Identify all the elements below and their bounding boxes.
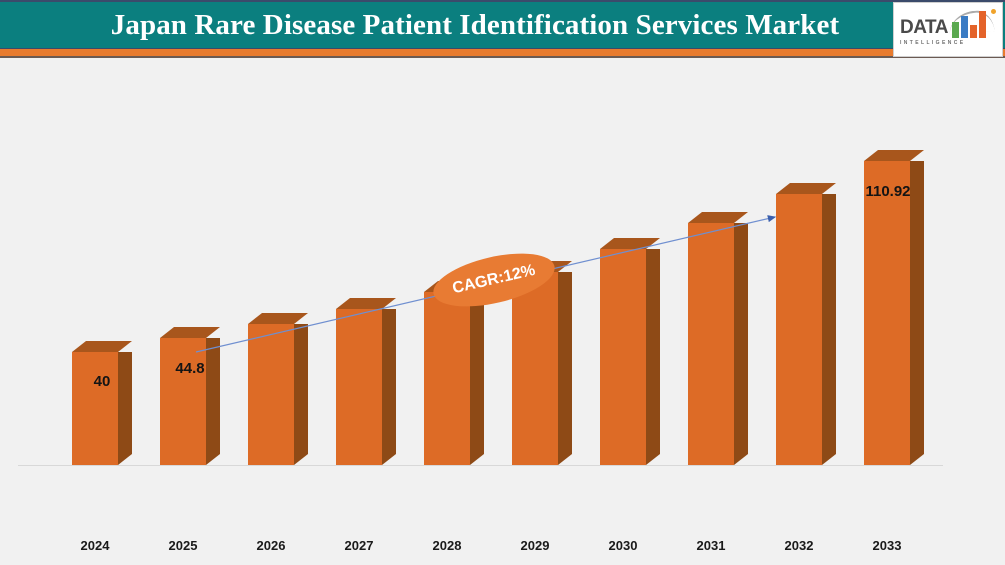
bar-2032 (776, 194, 822, 465)
bar-2027 (336, 309, 382, 465)
chart-page: Japan Rare Disease Patient Identificatio… (0, 0, 1005, 565)
chart-plot-area: 40202444.8202520262027202820292030203120… (0, 58, 1005, 565)
bar-side-face (382, 309, 396, 465)
logo-tagline: INTELLIGENCE (900, 40, 965, 46)
bar-front-face (688, 223, 734, 465)
bar-front-face (336, 309, 382, 465)
logo-arrow-tip-icon (991, 9, 996, 14)
bar-top-face (160, 327, 220, 338)
bar-front-face (864, 161, 910, 465)
bar-side-face (822, 194, 836, 465)
logo-bar-green-icon (952, 22, 959, 38)
bar-value-label-2024: 40 (72, 373, 132, 390)
x-axis-line (18, 465, 943, 466)
bar-top-face (72, 341, 132, 352)
bar-2025 (160, 338, 206, 465)
bar-2024 (72, 352, 118, 465)
bar-value-label-2033: 110.92 (848, 183, 928, 200)
bar-2031 (688, 223, 734, 465)
bar-front-face (160, 338, 206, 465)
x-axis-tick-2027: 2027 (329, 538, 389, 553)
x-axis-tick-2033: 2033 (857, 538, 917, 553)
logo-bar-blue-icon (961, 16, 968, 38)
bar-front-face (248, 324, 294, 465)
bar-side-face (910, 161, 924, 465)
x-axis-tick-2025: 2025 (153, 538, 213, 553)
bar-top-face (864, 150, 924, 161)
x-axis-tick-2028: 2028 (417, 538, 477, 553)
bar-side-face (646, 249, 660, 465)
bar-2028 (424, 292, 470, 465)
x-axis-tick-2031: 2031 (681, 538, 741, 553)
bar-top-face (600, 238, 660, 249)
bar-top-face (248, 313, 308, 324)
header-accent-strip (0, 49, 1005, 58)
bar-side-face (294, 324, 308, 465)
logo-bar-orange-tall-icon (979, 11, 986, 38)
bar-front-face (512, 272, 558, 465)
bar-side-face (470, 292, 484, 465)
bar-side-face (734, 223, 748, 465)
bar-2030 (600, 249, 646, 465)
bar-front-face (72, 352, 118, 465)
bar-2029 (512, 272, 558, 465)
bar-top-face (776, 183, 836, 194)
bar-2033 (864, 161, 910, 465)
x-axis-tick-2032: 2032 (769, 538, 829, 553)
logo-wordmark: DATA (900, 17, 948, 39)
bar-side-face (558, 272, 572, 465)
bar-side-face (206, 338, 220, 465)
bar-front-face (600, 249, 646, 465)
logo-bar-orange-short-icon (970, 25, 977, 38)
bar-top-face (336, 298, 396, 309)
bar-front-face (424, 292, 470, 465)
page-title: Japan Rare Disease Patient Identificatio… (60, 5, 890, 47)
brand-logo: DATA INTELLIGENCE (893, 2, 1003, 57)
bar-value-label-2025: 44.8 (158, 360, 222, 377)
bar-top-face (688, 212, 748, 223)
x-axis-tick-2029: 2029 (505, 538, 565, 553)
bar-side-face (118, 352, 132, 465)
x-axis-tick-2026: 2026 (241, 538, 301, 553)
x-axis-tick-2030: 2030 (593, 538, 653, 553)
bar-2026 (248, 324, 294, 465)
bar-front-face (776, 194, 822, 465)
x-axis-tick-2024: 2024 (65, 538, 125, 553)
